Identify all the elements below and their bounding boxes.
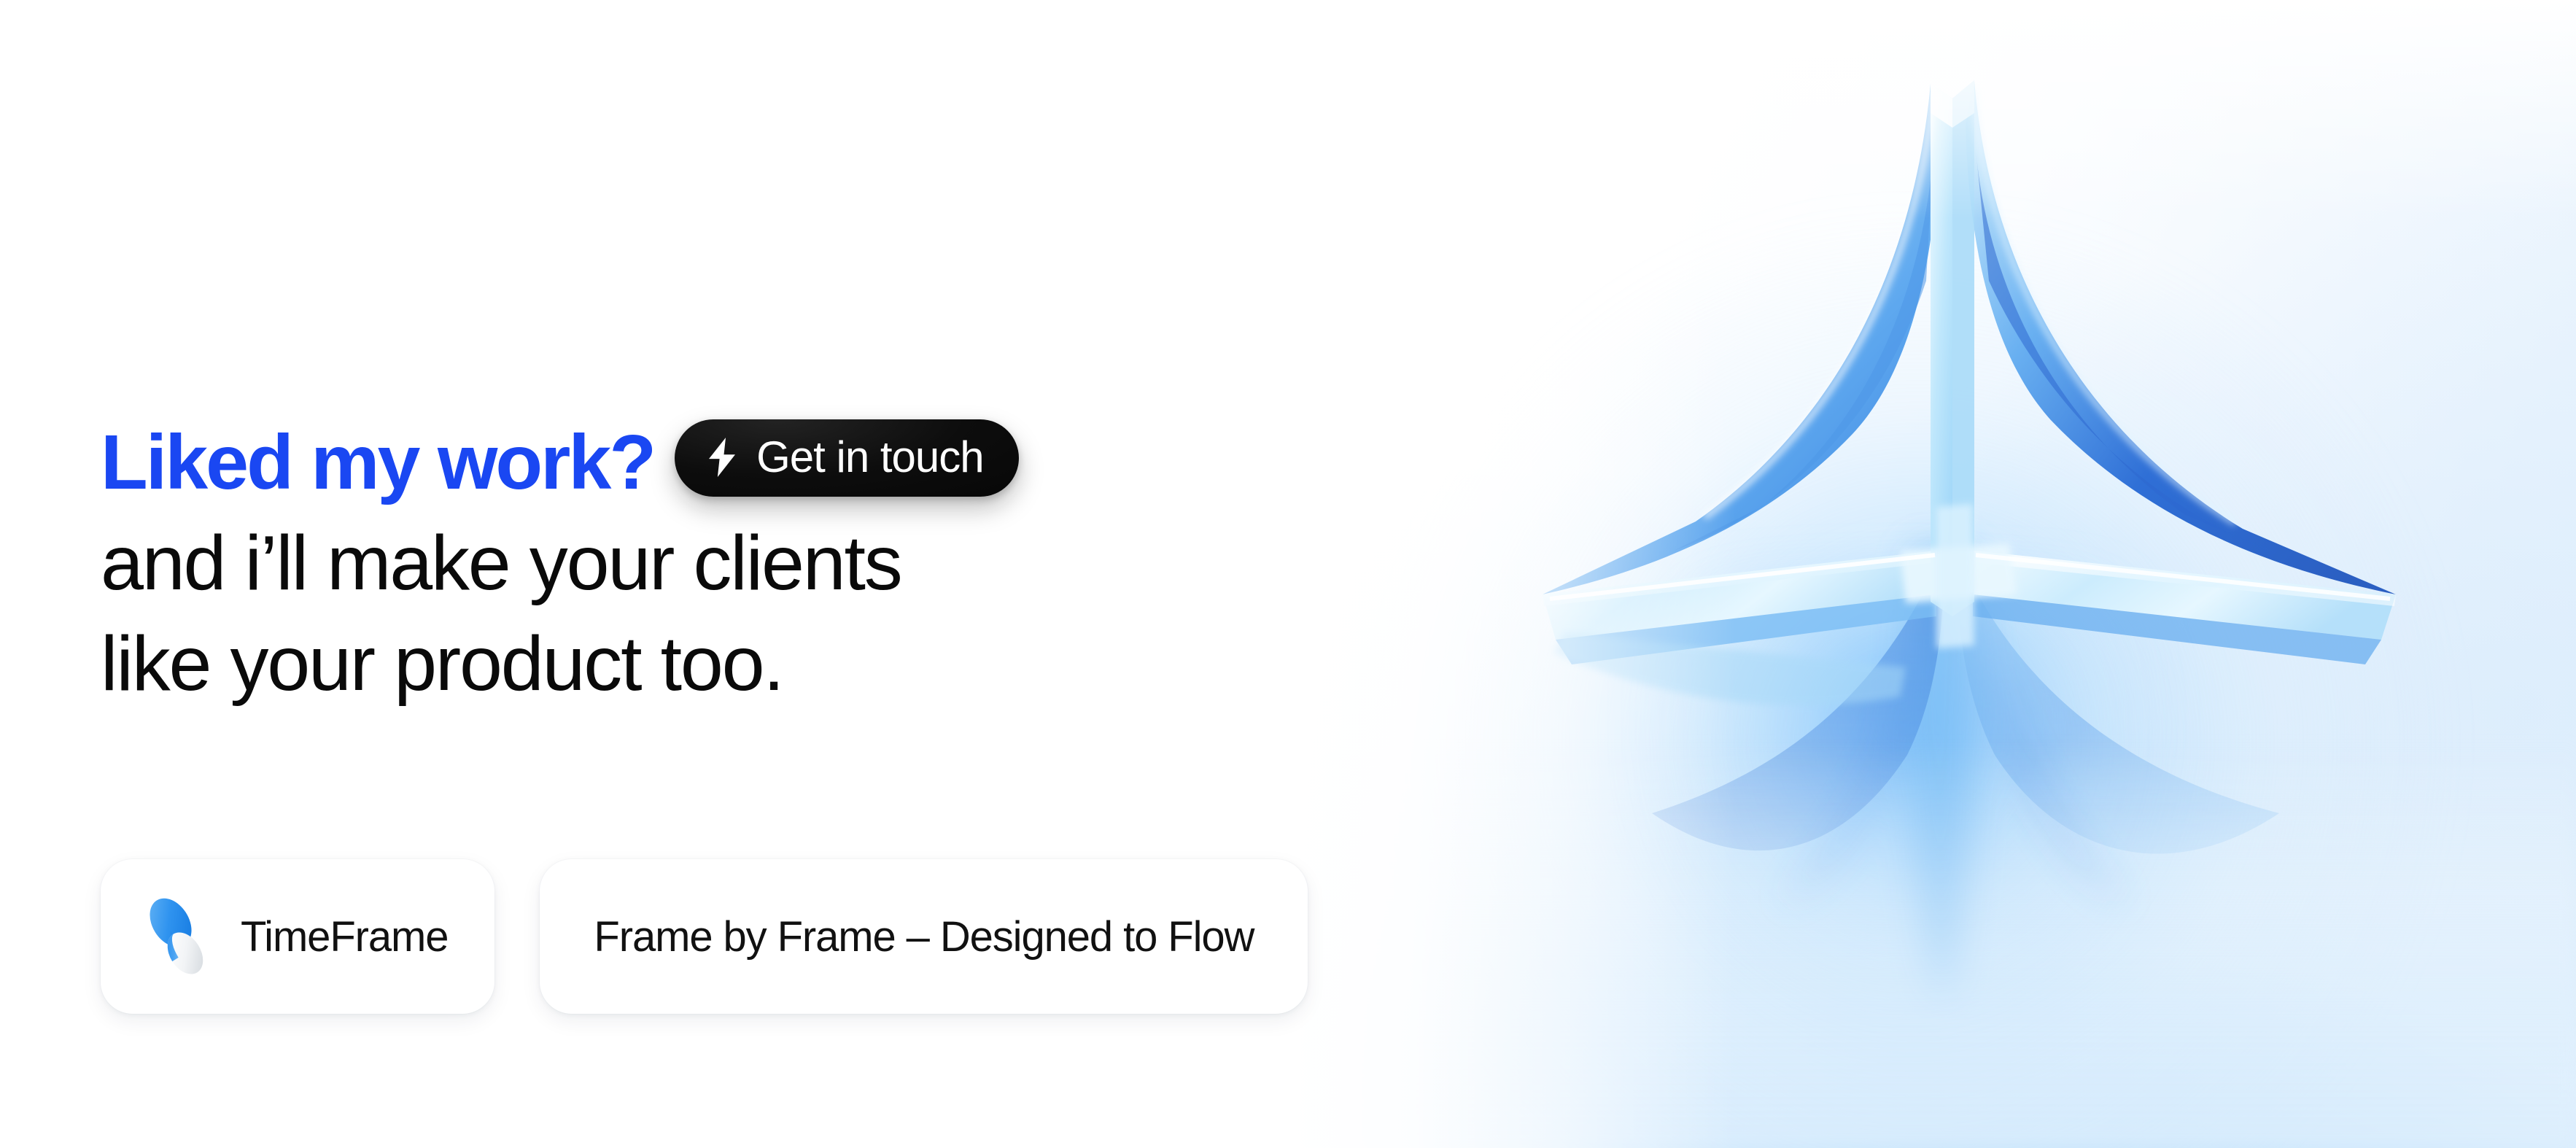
glass-star-graphic (1433, 40, 2469, 1017)
brand-chip-timeframe[interactable]: TimeFrame (101, 859, 494, 1014)
hero-section: Liked my work? Get in touch and i’ll mak… (0, 0, 2576, 1148)
brand-chip-label: TimeFrame (241, 912, 448, 961)
get-in-touch-label: Get in touch (756, 435, 984, 479)
tagline-chip[interactable]: Frame by Frame – Designed to Flow (540, 859, 1308, 1014)
lightning-bolt-icon (705, 438, 739, 477)
get-in-touch-button[interactable]: Get in touch (675, 419, 1019, 497)
timeframe-logo-icon (139, 893, 214, 980)
headline-line-2: and i’ll make your clients (101, 513, 1238, 613)
headline-line-1: Liked my work? Get in touch (101, 412, 1238, 513)
headline-accent-text: Liked my work? (101, 412, 654, 513)
artwork-panel (1284, 0, 2576, 1148)
hero-copy: Liked my work? Get in touch and i’ll mak… (101, 412, 1238, 714)
chip-row: TimeFrame Frame by Frame – Designed to F… (101, 859, 1308, 1014)
tagline-chip-label: Frame by Frame – Designed to Flow (594, 912, 1254, 961)
page-title: Liked my work? Get in touch and i’ll mak… (101, 412, 1238, 714)
headline-line-3: like your product too. (101, 613, 1238, 714)
